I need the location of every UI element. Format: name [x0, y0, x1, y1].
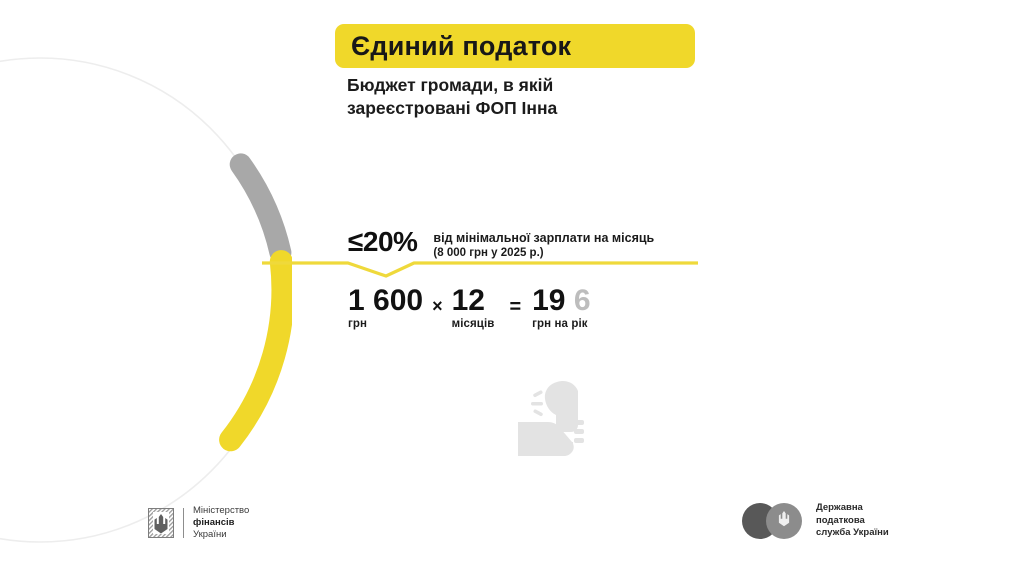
equation-months: 12 місяців [452, 286, 495, 330]
handshake-icon [512, 376, 598, 464]
tax-service-circles-emblem [742, 503, 806, 539]
tax-line-2: податкова [816, 515, 889, 528]
tax-service-circles-svg [742, 503, 806, 539]
equation-total: 19 6 грн на рік [532, 286, 590, 330]
logo-ministry-text: Міністерство фінансів України [193, 505, 249, 541]
slide-canvas: Єдиний податок Бюджет громади, в якій за… [0, 0, 1024, 576]
rate-row: ≤20% від мінімальної зарплати на місяць … [348, 228, 654, 261]
equation-months-unit: місяців [452, 318, 495, 330]
equation-row: 1 600 грн × 12 місяців = 19 6 грн на рік [348, 286, 591, 330]
equation-equals-sign: = [503, 286, 523, 317]
equation-total-settled: 19 [532, 284, 565, 317]
equation-months-value: 12 [452, 286, 495, 317]
logo-ministry-of-finance: Міністерство фінансів України [148, 505, 249, 541]
logo-tax-service: Державна податкова служба України [742, 502, 889, 540]
page-title: Єдиний податок [351, 33, 571, 60]
connector-chevron-path [262, 263, 698, 276]
equation-multiply-sign: × [432, 286, 443, 315]
handshake-icon-svg [512, 376, 598, 464]
donut-track-circle [0, 58, 282, 542]
equation-amount: 1 600 грн [348, 286, 423, 330]
minfin-line-2: фінансів [193, 517, 249, 529]
minfin-line-1: Міністерство [193, 505, 249, 517]
equation-total-unit: грн на рік [532, 318, 590, 330]
equation-total-value: 19 6 [532, 286, 590, 317]
rate-note-line2: (8 000 грн у 2025 р.) [433, 246, 654, 261]
rate-note: від мінімальної зарплати на місяць (8 00… [433, 228, 654, 261]
donut-segment-other [241, 164, 281, 252]
equation-total-pending: 6 [574, 284, 591, 317]
rate-percent: ≤20% [348, 228, 417, 256]
equation-amount-value: 1 600 [348, 286, 423, 317]
donut-chart [0, 48, 292, 552]
subtitle-text: Бюджет громади, в якій зареєстровані ФОП… [347, 74, 677, 121]
tax-line-1: Державна [816, 502, 889, 515]
ukraine-trident-emblem [148, 508, 174, 538]
logo-divider [183, 508, 184, 538]
tax-line-3: служба України [816, 527, 889, 540]
minfin-line-3: України [193, 529, 249, 541]
title-badge: Єдиний податок [335, 24, 695, 68]
donut-chart-svg [0, 48, 292, 552]
equation-amount-unit: грн [348, 318, 423, 330]
donut-segment-single-tax [231, 262, 283, 440]
logo-tax-service-text: Державна податкова служба України [816, 502, 889, 540]
rate-note-line1: від мінімальної зарплати на місяць [433, 231, 654, 245]
